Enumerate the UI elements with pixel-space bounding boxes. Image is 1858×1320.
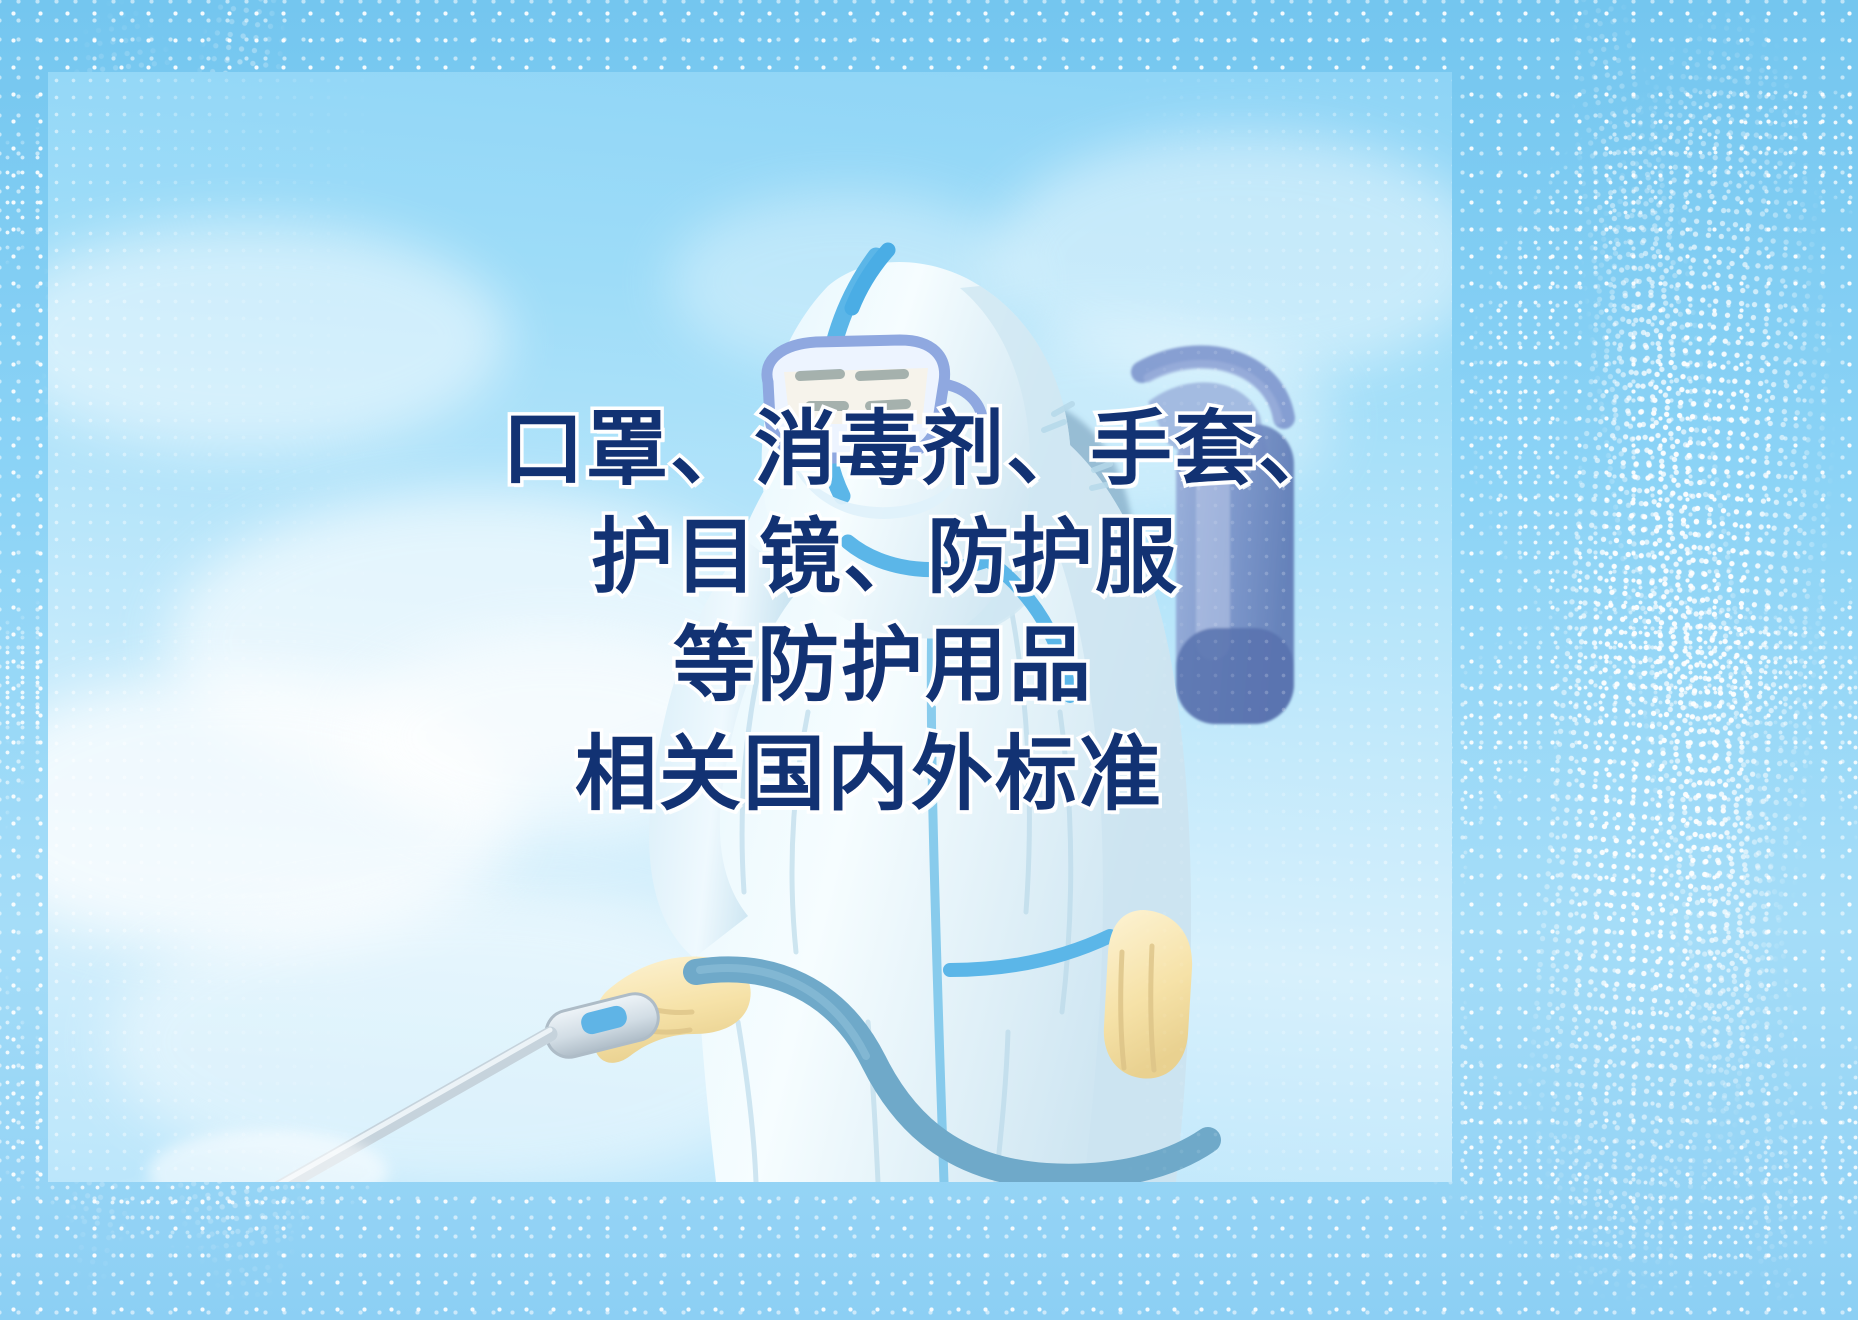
illustration-panel: [48, 72, 1452, 1182]
panel-dot-texture-right: [1122, 72, 1452, 1182]
poster-canvas: 口罩、消毒剂、手套、 护目镜、防护服 等防护用品 相关国内外标准: [0, 0, 1858, 1320]
sprayer-handle: [541, 989, 663, 1062]
panel-dot-texture-left: [48, 72, 378, 1182]
